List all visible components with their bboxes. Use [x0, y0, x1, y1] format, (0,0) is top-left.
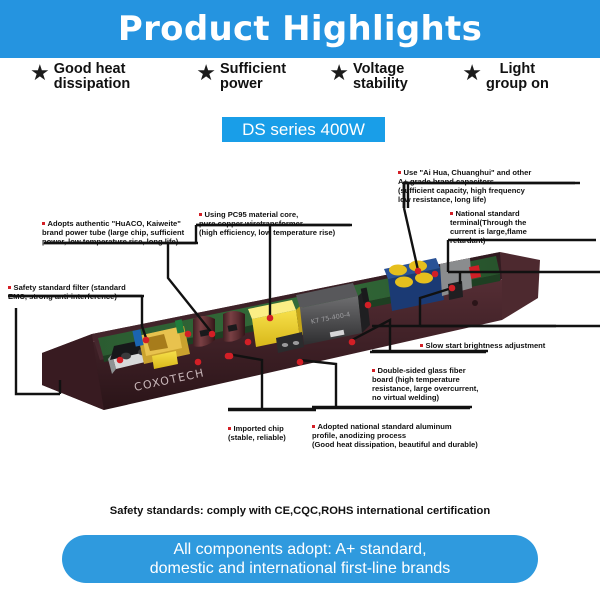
feature-label: Light group on: [486, 62, 549, 92]
series-badge: DS series 400W: [222, 117, 385, 142]
bullet-icon: [42, 222, 45, 225]
star-icon: ★: [196, 63, 216, 83]
marker-safety-filter: [143, 337, 150, 344]
marker-transformer: [267, 315, 274, 322]
callout-text: Safety standard filter (standard EMC, st…: [8, 283, 126, 301]
marker-coil: [245, 339, 252, 346]
marker-power-tube: [209, 331, 216, 338]
safety-standards-line: Safety standards: comply with CE,CQC,ROH…: [0, 505, 600, 517]
bullet-icon: [8, 286, 11, 289]
bullet-icon: [312, 425, 315, 428]
bullet-icon: [228, 427, 231, 430]
mounting-hole: [472, 300, 478, 306]
marker-cap-2: [227, 353, 234, 360]
bottom-banner: All components adopt: A+ standard, domes…: [62, 535, 538, 583]
bullet-icon: [420, 344, 423, 347]
callout-text: Adopts authentic "HuACO, Kaiweite" brand…: [42, 219, 184, 246]
callout-power-tube: Adopts authentic "HuACO, Kaiweite" brand…: [42, 210, 207, 246]
marker-glass-fiber: [349, 339, 356, 346]
header-band: Product Highlights: [0, 0, 600, 58]
marker-capacitors: [415, 268, 422, 275]
callout-text: Adopted national standard aluminum profi…: [312, 422, 478, 449]
marker-transformer-block: [365, 302, 372, 309]
star-icon: ★: [462, 63, 482, 83]
marker-cap-1: [195, 359, 202, 366]
bullet-icon: [398, 171, 401, 174]
feature-item-voltage-stability: ★ Voltage stability: [329, 62, 462, 92]
callout-transformer: Using PC95 material core, pure copper wi…: [199, 201, 369, 237]
callout-text: National standard terminal(Through the c…: [450, 209, 527, 245]
bullet-icon: [450, 212, 453, 215]
feature-item-good-heat-dissipation: ★ Good heat dissipation: [0, 62, 196, 92]
callout-text: Imported chip (stable, reliable): [228, 424, 286, 442]
callout-slow-start: Slow start brightness adjustment: [420, 332, 580, 350]
bullet-icon: [372, 369, 375, 372]
callout-text: Slow start brightness adjustment: [426, 341, 546, 350]
feature-item-light-group-on: ★ Light group on: [462, 62, 600, 92]
star-icon: ★: [30, 63, 50, 83]
callout-aluminum-profile: Adopted national standard aluminum profi…: [312, 413, 512, 449]
callout-capacitors: Use "Ai Hua, Chuanghui" and other A+ gra…: [398, 159, 594, 204]
callout-terminal: National standard terminal(Through the c…: [450, 200, 570, 245]
callout-text: Using PC95 material core, pure copper wi…: [199, 210, 335, 237]
feature-label: Voltage stability: [353, 62, 408, 92]
callout-text: Double-sided glass fiber board (high tem…: [372, 366, 478, 402]
feature-label: Sufficient power: [220, 62, 286, 92]
marker-slow-start: [449, 285, 456, 292]
product-diagram: K7 75-400-4: [0, 148, 600, 493]
housing-right-endcap: [500, 252, 540, 320]
page-title: Product Highlights: [118, 12, 482, 46]
callout-glass-fiber: Double-sided glass fiber board (high tem…: [372, 357, 502, 402]
feature-item-sufficient-power: ★ Sufficient power: [196, 62, 329, 92]
marker-aluminum: [297, 359, 304, 366]
callout-imported-chip: Imported chip (stable, reliable): [228, 415, 312, 442]
feature-label: Good heat dissipation: [54, 62, 131, 92]
callout-text: Use "Ai Hua, Chuanghui" and other A+ gra…: [398, 168, 531, 204]
star-icon: ★: [329, 63, 349, 83]
infographic-root: Product Highlights ★ Good heat dissipati…: [0, 0, 600, 600]
marker-power-tube-2: [185, 331, 192, 338]
feature-star-row: ★ Good heat dissipation ★ Sufficient pow…: [0, 62, 600, 106]
callout-safety-filter: Safety standard filter (standard EMC, st…: [8, 274, 158, 301]
marker-terminal: [432, 271, 439, 278]
marker-terminal-block: [117, 357, 124, 364]
